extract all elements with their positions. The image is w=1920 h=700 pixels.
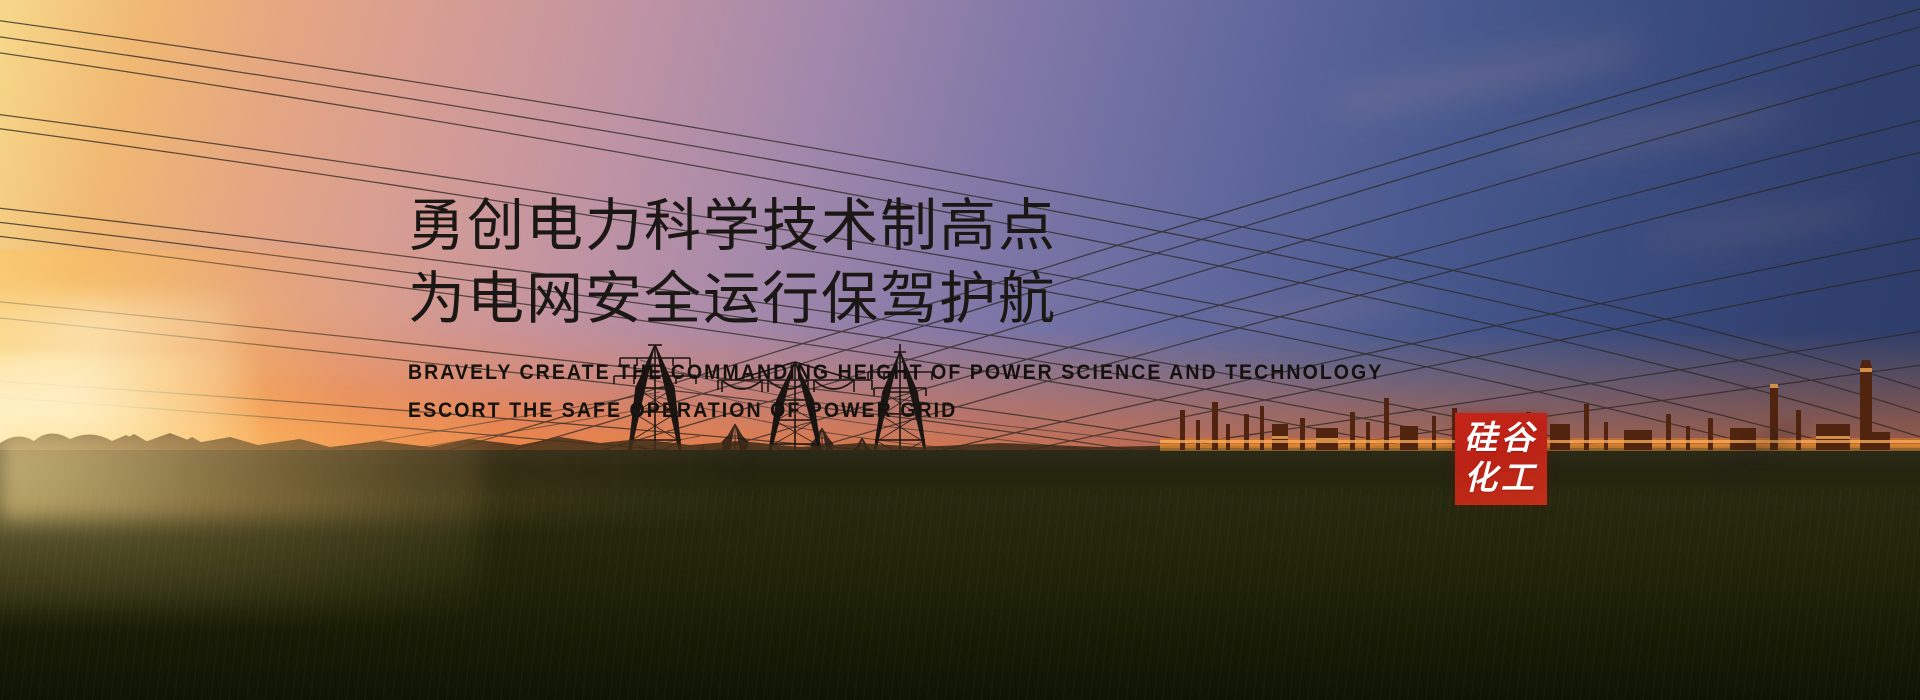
subhead-line-2: ESCORT THE SAFE OPERATION OF POWER GRID bbox=[408, 392, 1338, 430]
seal-text-row-1: 硅谷 bbox=[1464, 419, 1538, 459]
headline-line-2: 为电网安全运行保驾护航 bbox=[408, 263, 1408, 336]
ground-glow-left bbox=[0, 410, 480, 610]
headline-line-1: 勇创电力科学技术制高点 bbox=[408, 190, 1408, 263]
hero-banner: 勇创电力科学技术制高点 为电网安全运行保驾护航 BRAVELY CREATE T… bbox=[0, 0, 1920, 700]
seal-text-row-2: 化工 bbox=[1464, 459, 1538, 499]
hero-copy: 勇创电力科学技术制高点 为电网安全运行保驾护航 BRAVELY CREATE T… bbox=[408, 190, 1408, 430]
subhead-line-1: BRAVELY CREATE THE COMMANDING HEIGHT OF … bbox=[408, 354, 1338, 392]
company-seal-logo: 硅谷 化工 bbox=[1455, 413, 1547, 505]
subhead-block: BRAVELY CREATE THE COMMANDING HEIGHT OF … bbox=[408, 354, 1408, 430]
